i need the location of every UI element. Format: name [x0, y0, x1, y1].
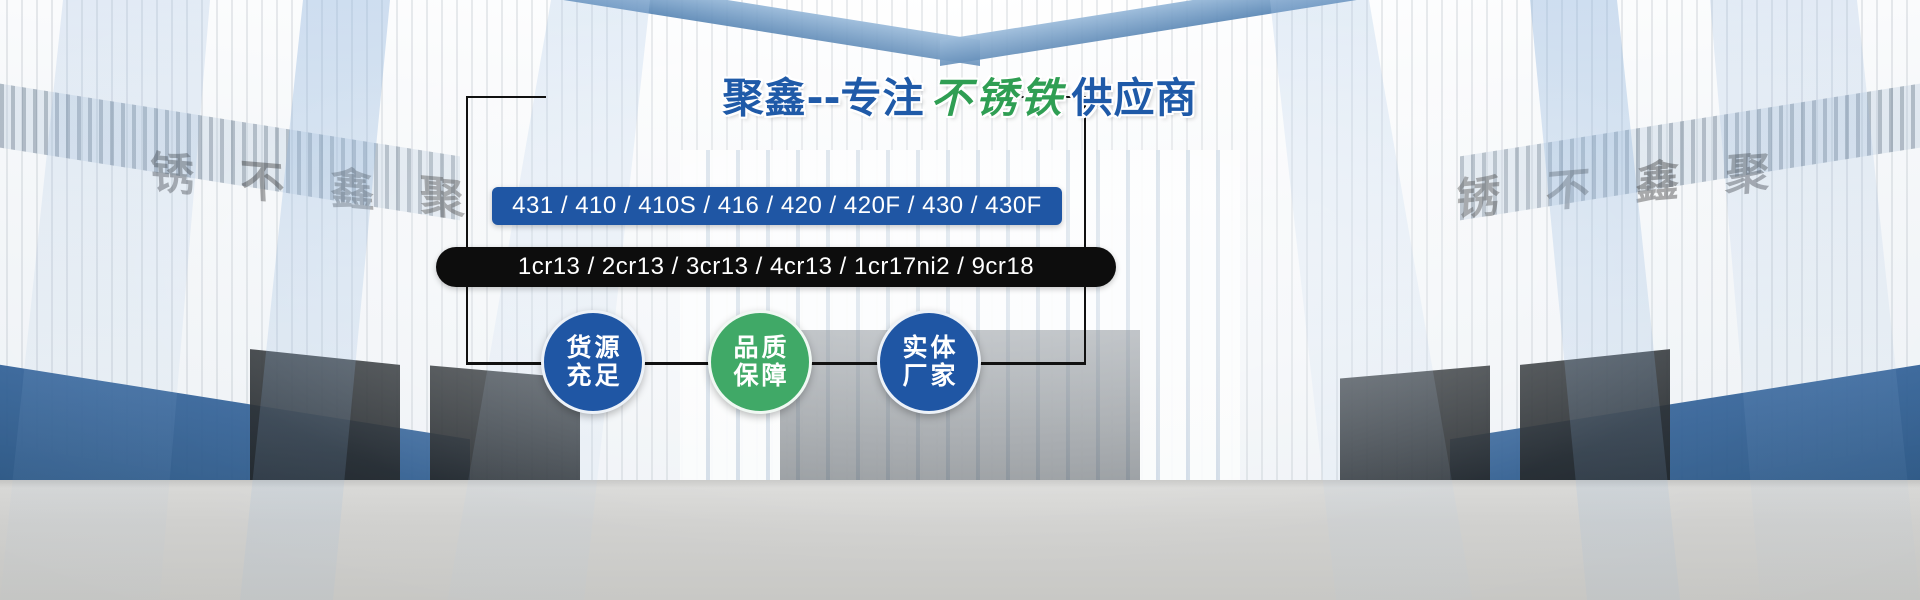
- badge-real-factory[interactable]: 实体 厂家: [877, 310, 981, 414]
- page-title: 聚鑫--专注不锈铁供应商: [0, 78, 1920, 119]
- badge-supply-sufficient[interactable]: 货源 充足: [541, 310, 645, 414]
- badge-connector-right: [981, 362, 1086, 364]
- headline-focus: 专注: [841, 74, 925, 122]
- badge-real-factory-line1: 实体: [899, 334, 958, 362]
- badge-supply-sufficient-line2: 充足: [563, 362, 622, 390]
- badge-connector-mid-left: [644, 362, 710, 364]
- grades-pill-blue-text: 431 / 410 / 410S / 416 / 420 / 420F / 43…: [512, 192, 1042, 220]
- badge-quality-guarantee-line1: 品质: [730, 334, 789, 362]
- badge-real-factory-line2: 厂家: [899, 362, 958, 390]
- badge-connector-mid-right: [812, 362, 878, 364]
- badge-row: 货源 充足 品质 保障 实体 厂家: [0, 310, 1920, 430]
- headline-supplier: 供应商: [1072, 74, 1198, 122]
- grades-pill-black-text: 1cr13 / 2cr13 / 3cr13 / 4cr13 / 1cr17ni2…: [518, 253, 1034, 281]
- headline-highlight: 不锈铁: [925, 74, 1072, 122]
- promo-banner: 锈 不 鑫 聚 锈 不 鑫 聚 聚鑫--专注不锈铁供应商 431 / 410 /…: [0, 0, 1920, 600]
- badge-supply-sufficient-line1: 货源: [563, 334, 622, 362]
- badge-connector-left: [466, 362, 544, 364]
- grades-pill-black: 1cr13 / 2cr13 / 3cr13 / 4cr13 / 1cr17ni2…: [436, 247, 1116, 287]
- headline-brand: 聚鑫: [722, 74, 806, 122]
- badge-quality-guarantee-line2: 保障: [730, 362, 789, 390]
- headline-dash: --: [806, 74, 840, 122]
- badge-quality-guarantee[interactable]: 品质 保障: [708, 310, 812, 414]
- grades-pill-blue: 431 / 410 / 410S / 416 / 420 / 420F / 43…: [492, 187, 1062, 225]
